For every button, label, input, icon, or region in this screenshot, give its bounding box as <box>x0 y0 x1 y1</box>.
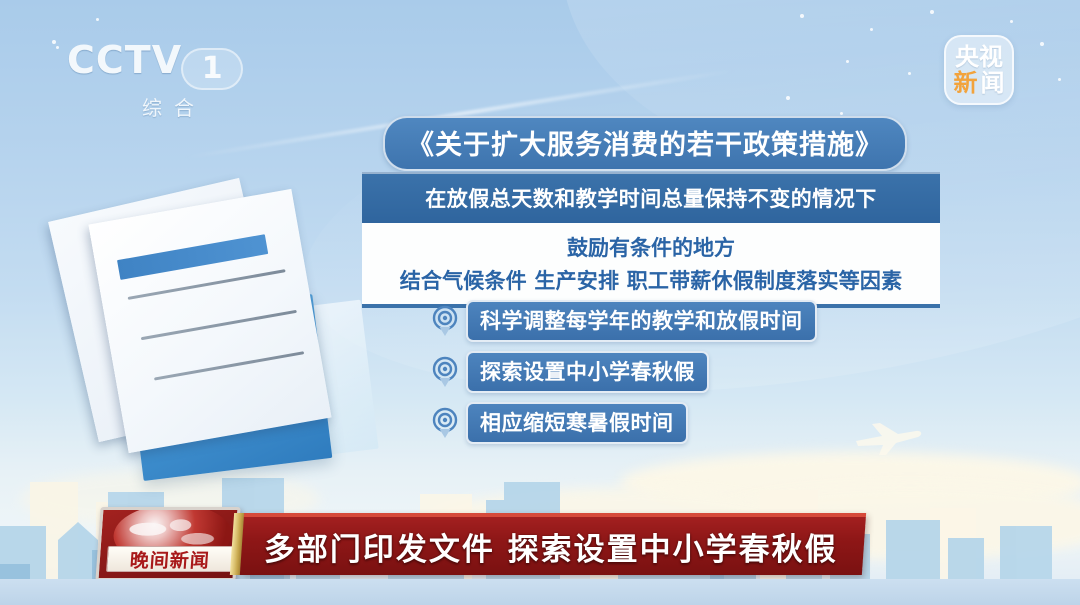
program-logo: 晚间新闻 <box>95 507 240 581</box>
sparkle-dot <box>930 10 934 14</box>
sparkle-dot <box>1058 78 1061 81</box>
paper-header-bar <box>117 234 268 280</box>
sparkle-dot <box>96 18 99 21</box>
channel-subtitle: 综合 <box>67 92 267 121</box>
program-logo-label: 晚间新闻 <box>106 546 234 572</box>
news-badge-xin: 新 <box>954 71 978 95</box>
headline-text: 多部门印发文件 探索设置中小学春秋假 <box>264 524 838 569</box>
sparkle-dot <box>870 28 873 31</box>
news-badge-wen: 闻 <box>981 71 1005 95</box>
paper-text-line <box>154 351 304 380</box>
channel-number-badge: 1 <box>181 48 243 90</box>
bullet-item: 探索设置中小学春秋假 <box>430 351 817 393</box>
sparkle-dot <box>1010 20 1013 23</box>
condition-bar-text: 在放假总天数和教学时间总量保持不变的情况下 <box>362 172 940 223</box>
sparkle-dot <box>846 60 849 63</box>
location-pin-icon <box>430 304 460 338</box>
condition-panel: 在放假总天数和教学时间总量保持不变的情况下 鼓励有条件的地方 结合气候条件 生产… <box>362 172 940 308</box>
channel-number: 1 <box>183 51 241 86</box>
sparkle-dot <box>840 112 843 115</box>
bullet-list: 科学调整每学年的教学和放假时间 探索设置中小学春秋假 相应缩短寒暑假时间 <box>430 300 817 453</box>
sparkle-dot <box>800 14 804 18</box>
cctv1-channel-logo: CCTV 1 综合 <box>67 38 267 116</box>
paper-sheet-front <box>88 189 331 453</box>
location-pin-icon <box>430 355 460 389</box>
cctv-wordmark: CCTV <box>67 38 182 82</box>
bullet-chip: 相应缩短寒暑假时间 <box>466 402 688 444</box>
news-ticker-bar: 晚间新闻 多部门印发文件 探索设置中小学春秋假 <box>0 507 1080 581</box>
condition-subtext-line2: 结合气候条件 生产安排 职工带薪休假制度落实等因素 <box>362 265 940 295</box>
condition-panel-body: 鼓励有条件的地方 结合气候条件 生产安排 职工带薪休假制度落实等因素 <box>362 223 940 308</box>
sparkle-dot <box>786 96 790 100</box>
location-pin-icon <box>430 406 460 440</box>
condition-subtext-line1: 鼓励有条件的地方 <box>362 230 940 265</box>
sparkle-dot <box>52 40 56 44</box>
bottom-strip <box>0 579 1080 605</box>
news-badge-line2: 新 闻 <box>954 71 1005 95</box>
sparkle-dot <box>1040 42 1044 46</box>
policy-title: 《关于扩大服务消费的若干政策措施》 <box>383 116 907 171</box>
cctv-news-badge: 央视 新 闻 <box>944 35 1014 105</box>
headline-banner: 多部门印发文件 探索设置中小学春秋假 <box>240 513 866 575</box>
news-badge-line1: 央视 <box>955 45 1003 69</box>
broadcast-frame: CCTV 1 综合 央视 新 闻 《关于扩大服务消费的若干政策措施》 在放假总天… <box>0 0 1080 605</box>
bullet-chip: 探索设置中小学春秋假 <box>466 351 709 393</box>
paper-text-line <box>141 310 297 340</box>
bullet-item: 科学调整每学年的教学和放假时间 <box>430 300 817 342</box>
document-illustration <box>55 185 375 470</box>
sparkle-dot <box>908 72 911 75</box>
bullet-item: 相应缩短寒暑假时间 <box>430 402 817 444</box>
sparkle-dot <box>56 46 59 49</box>
bullet-chip: 科学调整每学年的教学和放假时间 <box>466 300 817 342</box>
